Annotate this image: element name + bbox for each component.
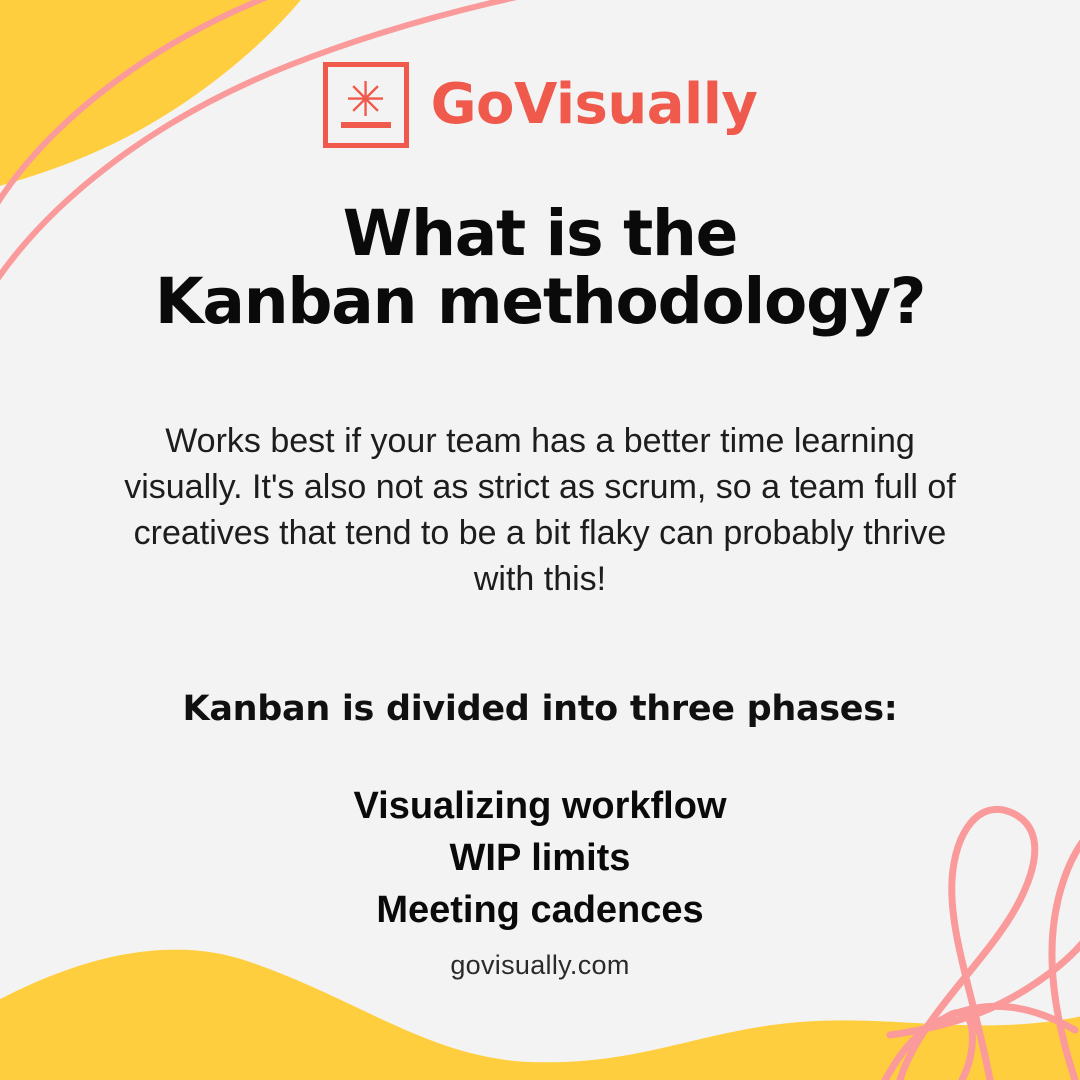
asterisk-glyph: ✳ bbox=[328, 76, 404, 124]
poster-content: ✳ GoVisually What is the Kanban methodol… bbox=[0, 0, 1080, 1080]
headline-line-2: Kanban methodology? bbox=[155, 268, 925, 336]
phases-list: Visualizing workflow WIP limits Meeting … bbox=[353, 780, 726, 936]
body-paragraph: Works best if your team has a better tim… bbox=[110, 418, 970, 602]
social-post-card: ✳ GoVisually What is the Kanban methodol… bbox=[0, 0, 1080, 1080]
logo-underline-bar bbox=[341, 122, 391, 128]
footer-website-url[interactable]: govisually.com bbox=[0, 950, 1080, 981]
brand-name: GoVisually bbox=[431, 77, 758, 133]
asterisk-square-icon: ✳ bbox=[323, 62, 409, 148]
phases-intro-text: Kanban is divided into three phases: bbox=[183, 688, 898, 730]
phase-item-3: Meeting cadences bbox=[353, 884, 726, 936]
page-title: What is the Kanban methodology? bbox=[155, 200, 925, 336]
headline-line-1: What is the bbox=[343, 197, 737, 270]
phase-item-2: WIP limits bbox=[353, 832, 726, 884]
brand-logo[interactable]: ✳ GoVisually bbox=[323, 62, 758, 148]
phase-item-1: Visualizing workflow bbox=[353, 780, 726, 832]
